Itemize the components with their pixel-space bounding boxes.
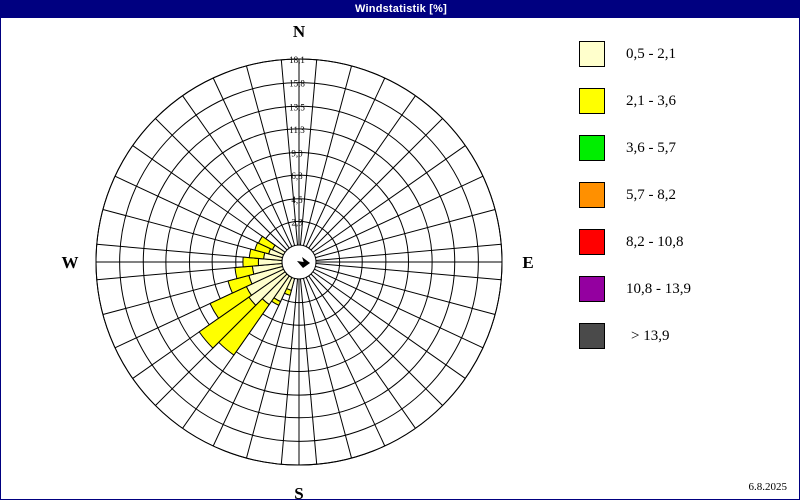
legend-swatch-0 <box>579 41 605 67</box>
legend-swatch-4 <box>579 229 605 255</box>
radial-tick-label: 15,8 <box>289 79 305 89</box>
legend-item: 2,1 - 3,6 <box>579 86 794 116</box>
legend-item: 8,2 - 10,8 <box>579 227 794 257</box>
radial-tick-labels: 2,34,56,89,011,313,515,818,1 <box>289 55 305 227</box>
radial-tick-label: 11,3 <box>289 125 305 135</box>
calm-center <box>282 245 316 279</box>
radial-tick-label: 18,1 <box>289 55 305 65</box>
window-title-text: Windstatistik [%] <box>355 3 447 15</box>
date-stamp: 6.8.2025 <box>749 481 788 493</box>
legend-swatch-5 <box>579 276 605 302</box>
legend-swatch-2 <box>579 135 605 161</box>
legend-label-2: 3,6 - 5,7 <box>626 140 676 157</box>
legend-item: 10,8 - 13,9 <box>579 274 794 304</box>
legend-item: 5,7 - 8,2 <box>579 180 794 210</box>
windstatistik-window: Windstatistik [%] 2,34,56,89,011,313,515… <box>0 0 800 500</box>
cardinal-label-s: S <box>294 484 303 500</box>
cardinal-label-n: N <box>293 22 306 41</box>
legend-label-4: 8,2 - 10,8 <box>626 234 684 251</box>
legend-label-5: 10,8 - 13,9 <box>626 281 691 298</box>
legend-swatch-1 <box>579 88 605 114</box>
legend-label-1: 2,1 - 3,6 <box>626 93 676 110</box>
legend-label-3: 5,7 - 8,2 <box>626 187 676 204</box>
speed-legend: 0,5 - 2,1 2,1 - 3,6 3,6 - 5,7 5,7 - 8,2 … <box>579 39 794 368</box>
legend-item: 0,5 - 2,1 <box>579 39 794 69</box>
legend-swatch-3 <box>579 182 605 208</box>
wind-rose-plot: 2,34,56,89,011,313,515,818,1 NESW <box>1 18 561 500</box>
radial-tick-label: 2,3 <box>291 217 303 227</box>
cardinal-label-e: E <box>522 253 533 272</box>
legend-item: > 13,9 <box>579 321 794 351</box>
radial-tick-label: 13,5 <box>289 102 305 112</box>
legend-swatch-6 <box>579 323 605 349</box>
wind-rose-svg: 2,34,56,89,011,313,515,818,1 NESW <box>1 18 561 500</box>
radial-tick-label: 4,5 <box>291 195 303 205</box>
window-title-bar: Windstatistik [%] <box>1 1 800 18</box>
legend-label-0: 0,5 - 2,1 <box>626 46 676 63</box>
radial-tick-label: 9,0 <box>291 149 303 159</box>
legend-label-6: > 13,9 <box>631 328 669 345</box>
radial-tick-label: 6,8 <box>291 171 303 181</box>
legend-item: 3,6 - 5,7 <box>579 133 794 163</box>
cardinal-label-w: W <box>62 253 79 272</box>
